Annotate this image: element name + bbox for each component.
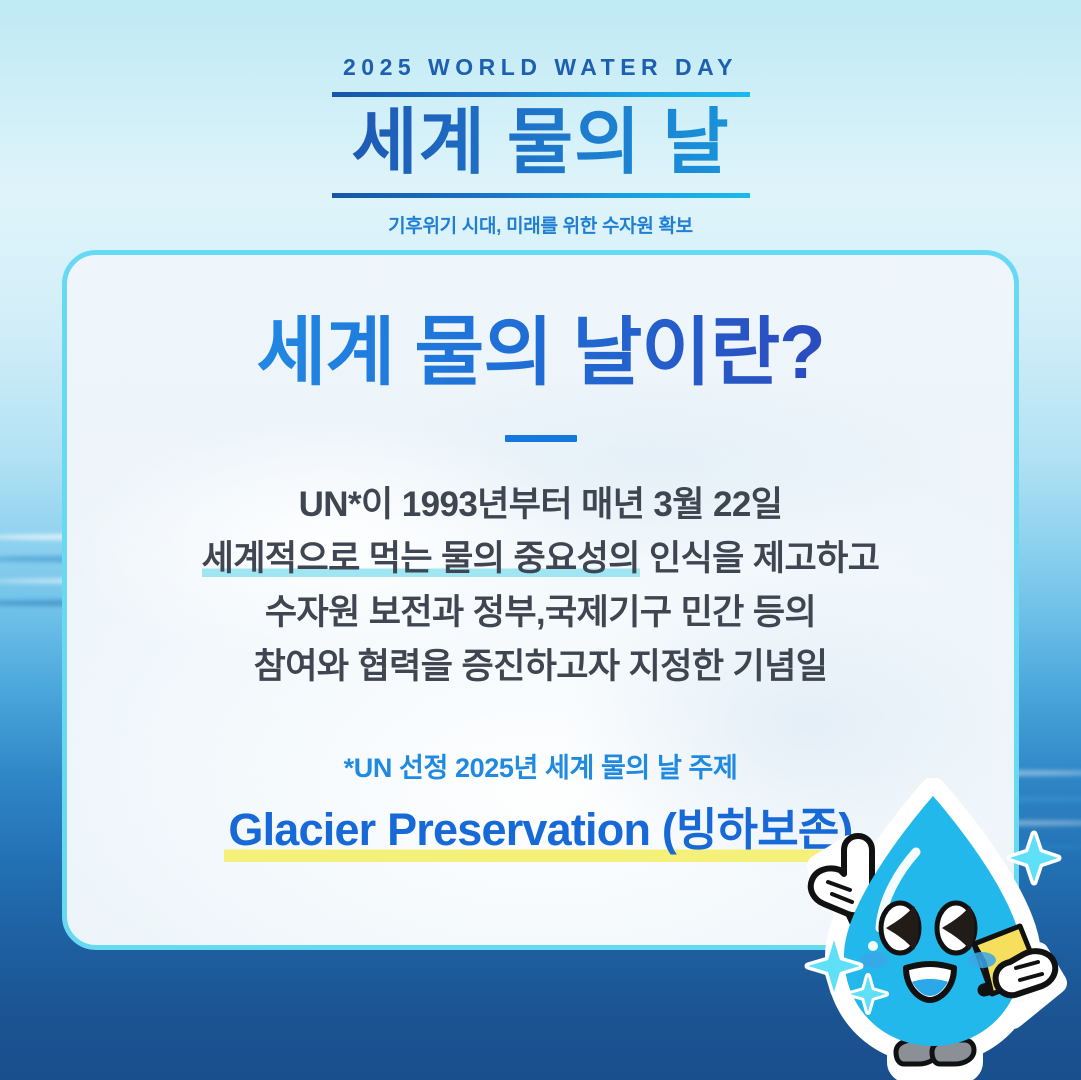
- body-line-2-rest: 인식을 제고하고: [640, 539, 879, 578]
- poster-wordmark: 세계 물의 날: [0, 103, 1081, 184]
- eyebrow-text: 2025 WORLD WATER DAY: [0, 54, 1081, 81]
- poster-canvas: 2025 WORLD WATER DAY 세계 물의 날 기후위기 시대, 미래…: [0, 0, 1081, 1080]
- poster-tagline: 기후위기 시대, 미래를 위한 수자원 확보: [0, 211, 1081, 238]
- water-drop-mascot: [788, 778, 1078, 1080]
- body-line-4: 참여와 협력을 증진하고자 지정한 기념일: [67, 640, 1014, 694]
- card-headline: 세계 물의 날이란?: [67, 315, 1014, 391]
- header-rule-bottom: [332, 193, 750, 198]
- body-line-3: 수자원 보전과 정부,국제기구 민간 등의: [67, 586, 1014, 640]
- headline-divider: [505, 435, 577, 442]
- body-line-1: UN*이 1993년부터 매년 3월 22일: [67, 478, 1014, 532]
- card-body-copy: UN*이 1993년부터 매년 3월 22일 세계적으로 먹는 물의 중요성의 …: [67, 478, 1014, 694]
- header-rule-top: [332, 92, 750, 97]
- body-line-2-highlight: 세계적으로 먹는 물의 중요성의: [202, 539, 640, 578]
- theme-title: Glacier Preservation (빙하보존): [224, 793, 856, 862]
- poster-header: 2025 WORLD WATER DAY 세계 물의 날 기후위기 시대, 미래…: [0, 0, 1081, 238]
- body-line-2: 세계적으로 먹는 물의 중요성의 인식을 제고하고: [67, 532, 1014, 586]
